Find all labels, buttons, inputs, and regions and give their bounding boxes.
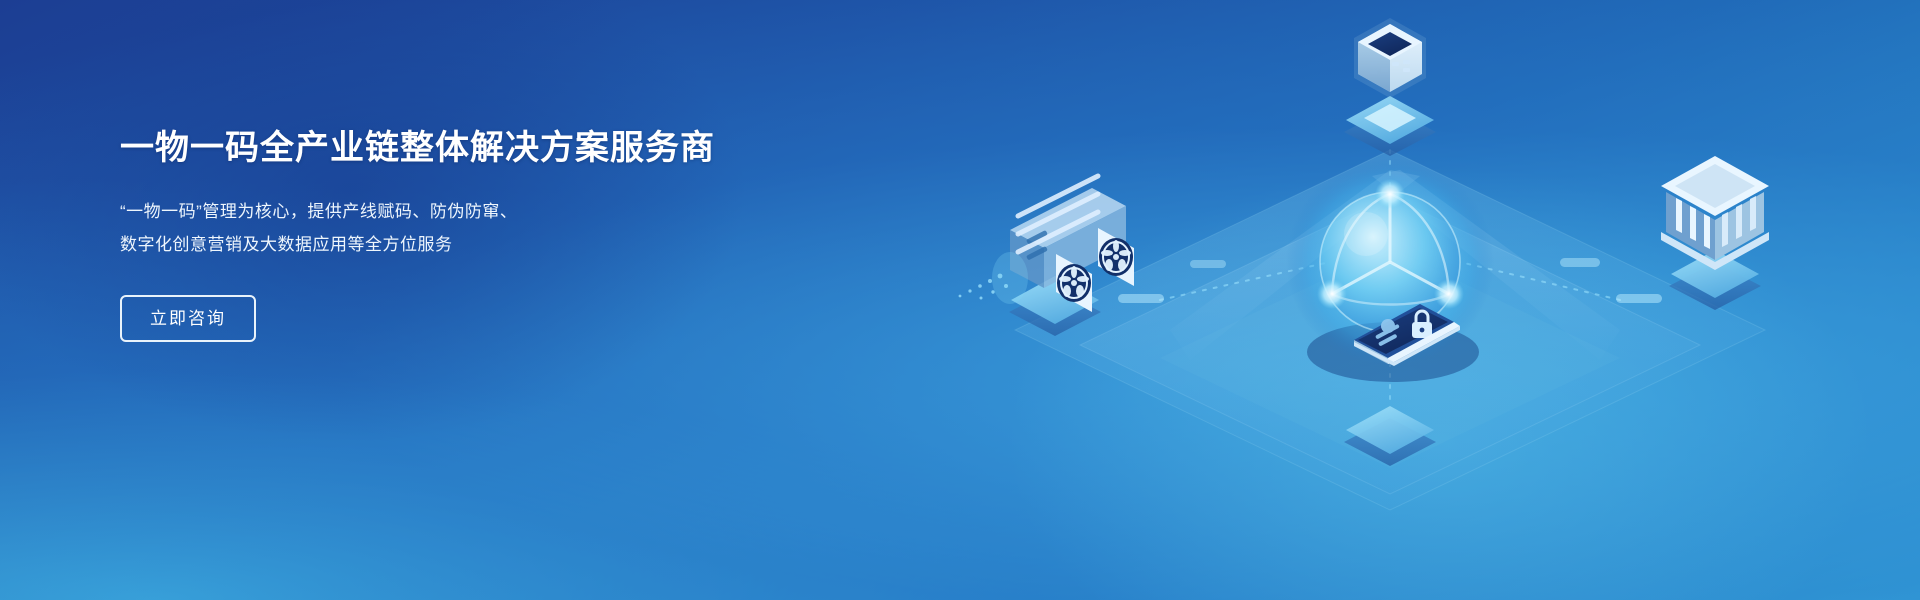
consult-now-button[interactable]: 立即咨询 <box>120 295 256 342</box>
pos-terminal-icon <box>1354 18 1426 98</box>
bank-building-node <box>1661 156 1769 310</box>
hero-subheadline-line-2: 数字化创意营销及大数据应用等全方位服务 <box>120 228 740 261</box>
hero-headline: 一物一码全产业链整体解决方案服务商 <box>120 128 740 169</box>
isometric-tech-network-illustration <box>860 0 1920 600</box>
bank-building-icon <box>1661 156 1769 270</box>
hero-subheadline: “一物一码”管理为核心，提供产线赋码、防伪防窜、 数字化创意营销及大数据应用等全… <box>120 195 740 261</box>
hero-banner: 一物一码全产业链整体解决方案服务商 “一物一码”管理为核心，提供产线赋码、防伪防… <box>0 0 1920 600</box>
hero-subheadline-line-1: “一物一码”管理为核心，提供产线赋码、防伪防窜、 <box>120 195 740 228</box>
hero-copy-block: 一物一码全产业链整体解决方案服务商 “一物一码”管理为核心，提供产线赋码、防伪防… <box>120 128 740 342</box>
pos-terminal-node <box>1344 18 1436 156</box>
